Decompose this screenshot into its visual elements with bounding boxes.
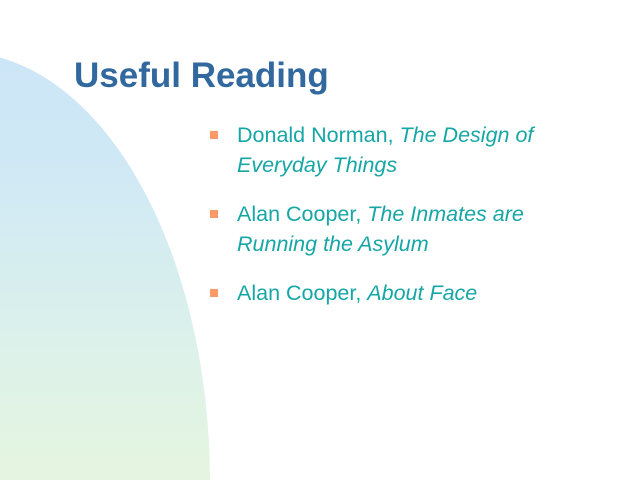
list-item-author: Alan Cooper, xyxy=(237,202,367,226)
list-item: Alan Cooper, The Inmates are Running the… xyxy=(206,199,602,259)
square-bullet-icon xyxy=(210,131,218,139)
gradient-ellipse-decoration xyxy=(0,52,210,480)
list-item: Alan Cooper, About Face xyxy=(206,278,602,308)
list-item-author: Alan Cooper, xyxy=(237,281,367,305)
list-item: Donald Norman, The Design of Everyday Th… xyxy=(206,120,602,180)
slide-canvas: Useful Reading Donald Norman, The Design… xyxy=(0,0,640,480)
list-item-author: Donald Norman, xyxy=(237,123,400,147)
slide-title: Useful Reading xyxy=(74,54,594,98)
square-bullet-icon xyxy=(210,210,218,218)
reading-list: Donald Norman, The Design of Everyday Th… xyxy=(206,120,602,327)
square-bullet-icon xyxy=(210,289,218,297)
list-item-book-title: About Face xyxy=(367,281,477,305)
